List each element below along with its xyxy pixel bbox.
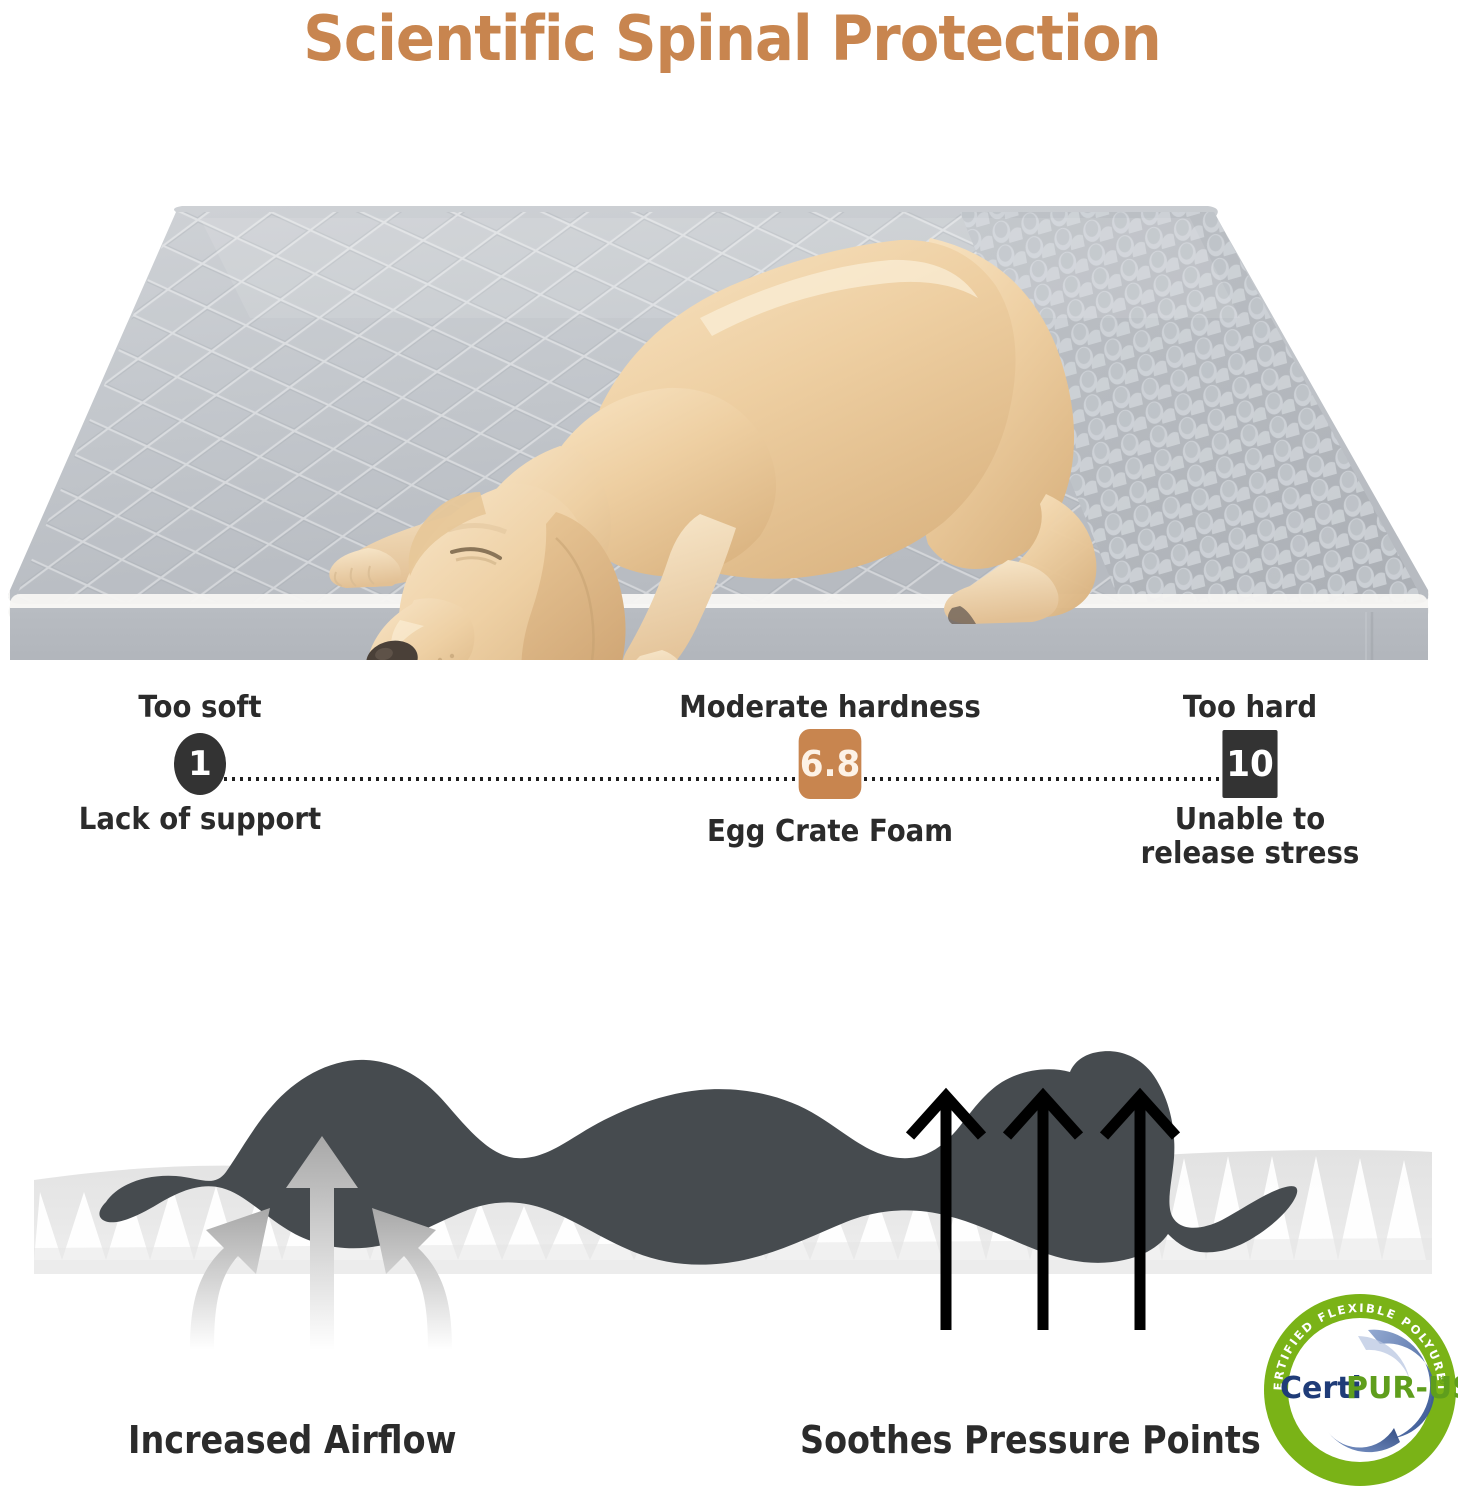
certipur-us-logo: CONTAINS CERTIFIED FLEXIBLE POLYURETHANE… [1262, 1292, 1458, 1488]
firmness-scale: Too soft 1 Lack of support Moderate hard… [0, 690, 1464, 910]
scale-node-too-soft: Too soft 1 Lack of support [60, 690, 340, 837]
scale-badge-10: 10 [1222, 730, 1277, 798]
scale-sublabel-lack-of-support: Lack of support [71, 803, 329, 837]
label-soothes-pressure-points: Soothes Pressure Points [800, 1418, 1261, 1462]
product-photo [0, 108, 1464, 660]
page-title: Scientific Spinal Protection [51, 2, 1413, 75]
foam-diagram-svg [0, 930, 1464, 1350]
certipur-logo-svg: CONTAINS CERTIFIED FLEXIBLE POLYURETHANE… [1262, 1292, 1458, 1488]
bed-side-panel [10, 608, 1428, 660]
logo-registered-mark: ® [1438, 1376, 1448, 1387]
scale-node-too-hard: Too hard 10 Unable to release stress [1110, 690, 1390, 871]
dog-bed-photo-svg [0, 108, 1464, 660]
scale-label-too-soft: Too soft [71, 690, 329, 725]
scale-sublabel-egg-crate-foam: Egg Crate Foam [655, 815, 1005, 849]
logo-wordmark: Certi PUR-US ® [1280, 1371, 1458, 1406]
scale-sublabel-unable-line1: Unable to [1121, 803, 1379, 837]
scale-label-moderate-hardness: Moderate hardness [655, 690, 1005, 725]
scale-label-too-hard: Too hard [1121, 690, 1379, 725]
label-increased-airflow: Increased Airflow [128, 1418, 456, 1462]
scale-badge-1: 1 [174, 733, 226, 795]
scale-sublabel-unable-line2: release stress [1121, 837, 1379, 871]
scale-badge-6-8: 6.8 [799, 729, 862, 799]
foam-support-diagram [0, 930, 1464, 1350]
pressure-arrows [910, 1096, 1176, 1330]
scale-node-moderate: Moderate hardness 6.8 Egg Crate Foam [640, 690, 1020, 849]
infographic-page: Scientific Spinal Protection [0, 0, 1464, 1500]
